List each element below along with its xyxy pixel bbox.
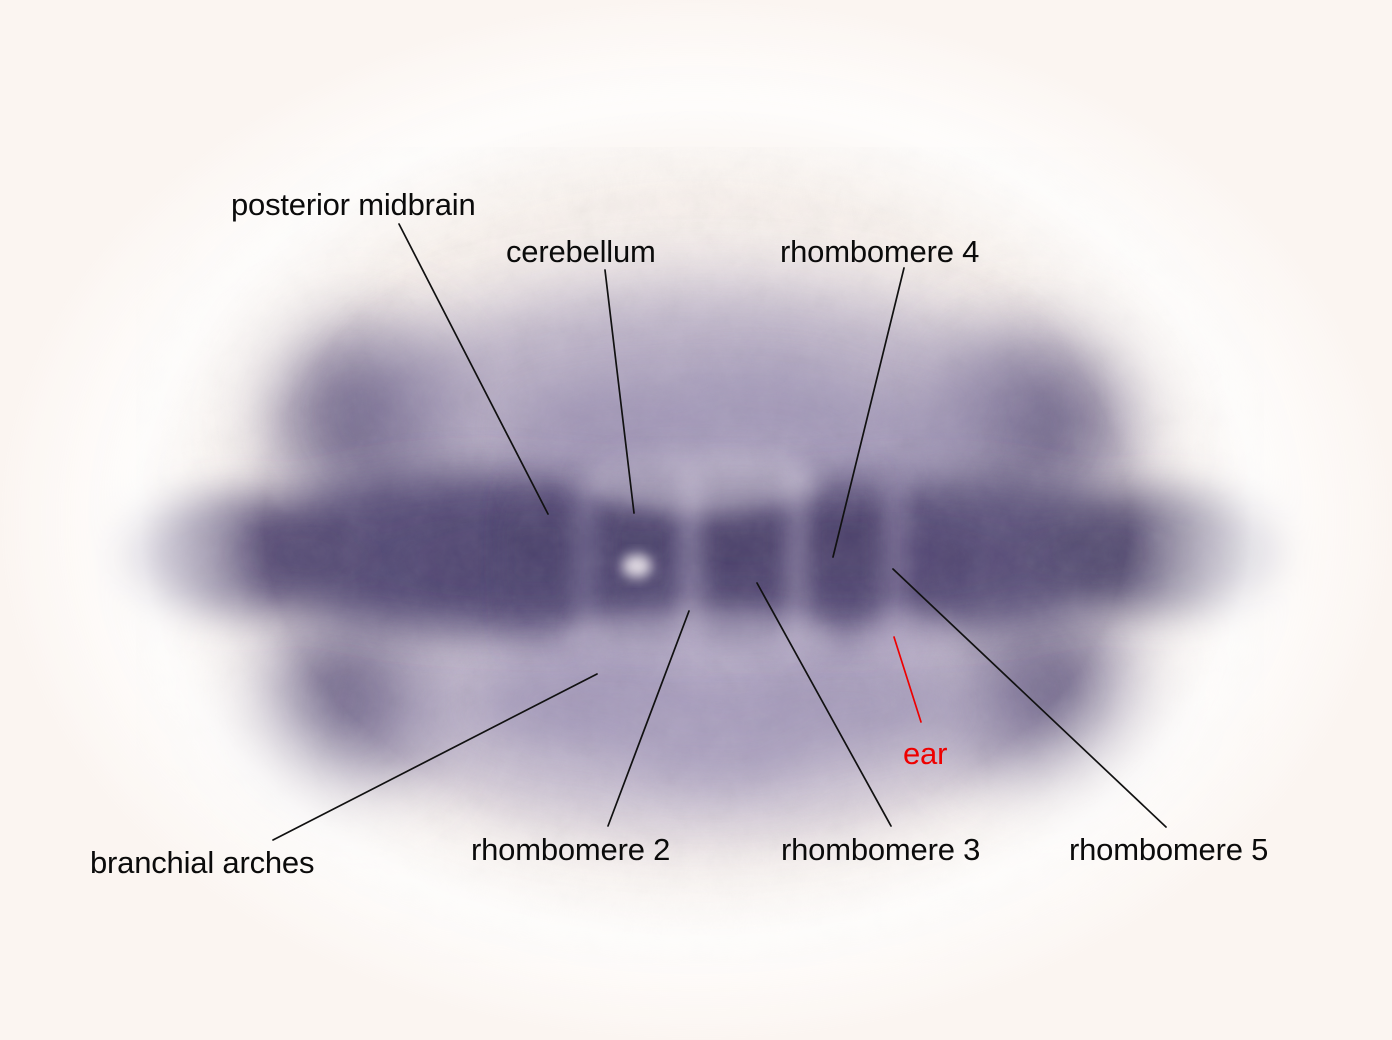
- label-ear[interactable]: ear: [903, 736, 947, 771]
- specimen-group: [0, 0, 1392, 1040]
- label-rhombomere-2[interactable]: rhombomere 2: [471, 832, 670, 867]
- micrograph-image: [0, 0, 1392, 1040]
- field-vignette: [0, 0, 1392, 1040]
- label-posterior-midbrain[interactable]: posterior midbrain: [231, 187, 476, 222]
- label-rhombomere-5[interactable]: rhombomere 5: [1069, 832, 1268, 867]
- label-cerebellum[interactable]: cerebellum: [506, 234, 656, 269]
- label-rhombomere-4[interactable]: rhombomere 4: [780, 234, 979, 269]
- figure-root: posterior midbrain cerebellum rhombomere…: [0, 0, 1392, 1040]
- label-branchial-arches[interactable]: branchial arches: [90, 845, 314, 880]
- label-rhombomere-3[interactable]: rhombomere 3: [781, 832, 980, 867]
